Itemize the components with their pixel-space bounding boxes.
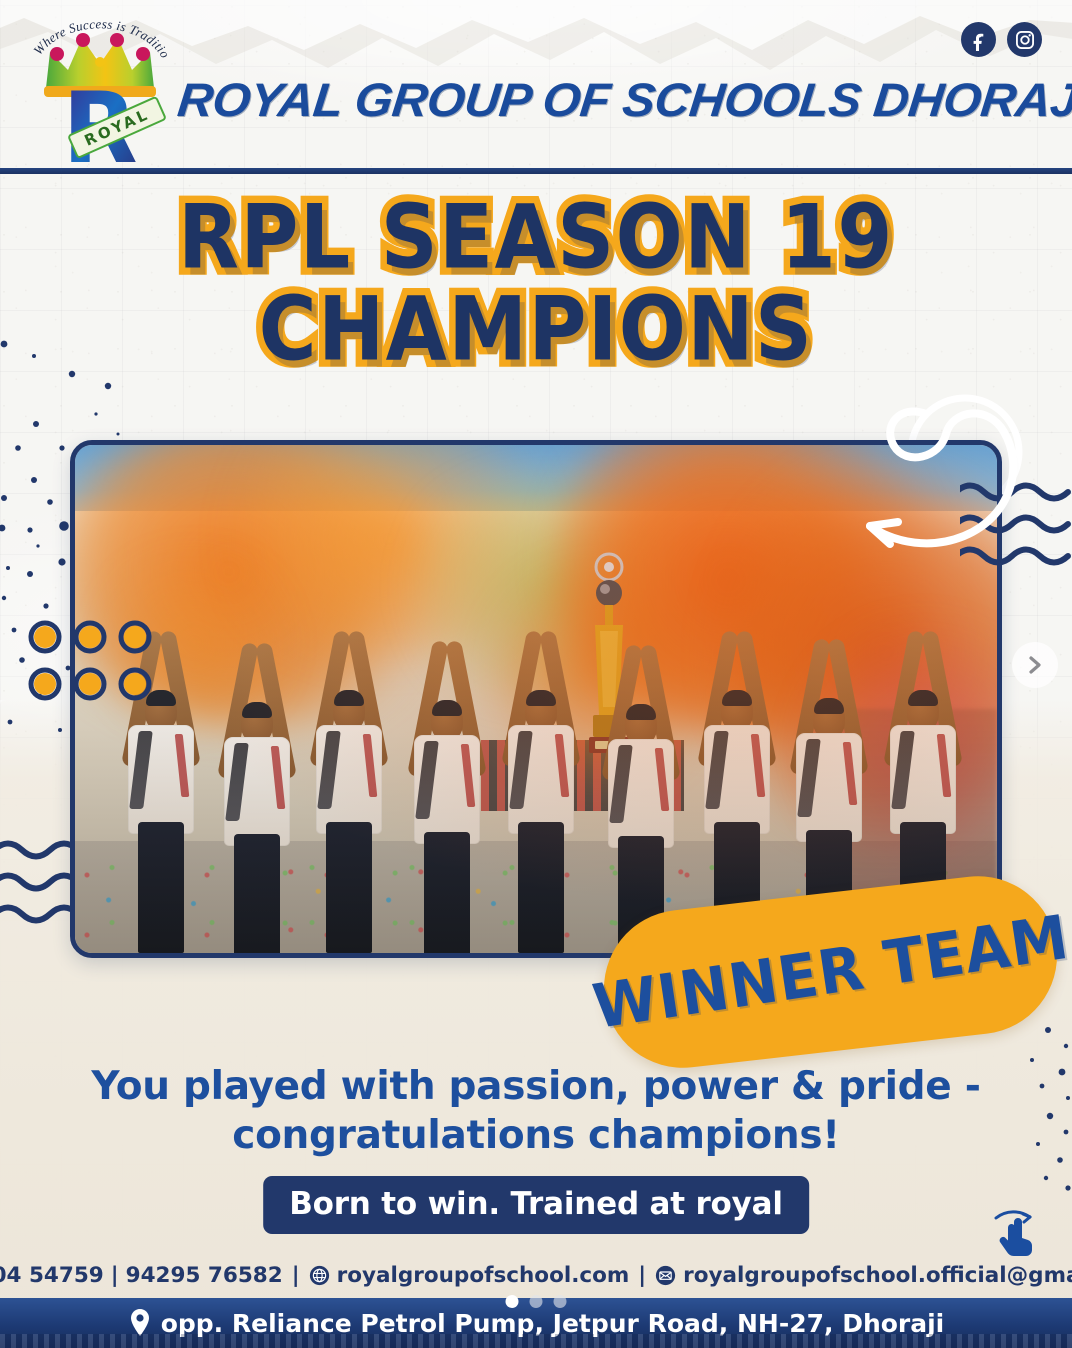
facebook-glyph	[968, 29, 990, 51]
contact-separator-2: |	[638, 1263, 646, 1288]
page-title: ROYAL GROUP OF SCHOOLS DHORAJI	[175, 72, 1072, 127]
website-contact[interactable]: royalgroupofschool.com	[309, 1263, 630, 1288]
header: Where Success is Tradition R ROYAL RO	[0, 0, 1072, 170]
player-figure	[307, 669, 391, 953]
carousel-pagination[interactable]	[506, 1295, 567, 1308]
logo-graphic: Where Success is Tradition R ROYAL	[24, 12, 176, 162]
curved-arrow-icon	[848, 398, 1038, 568]
carousel-dot[interactable]	[554, 1295, 567, 1308]
player-figure	[499, 669, 583, 953]
email-contact[interactable]: royalgroupofschool.official@gmail.com	[655, 1263, 1072, 1288]
headline-line-1: RPL SEASON 19	[0, 196, 1072, 281]
email-icon	[655, 1265, 676, 1286]
poster-canvas: Where Success is Tradition R ROYAL RO	[0, 0, 1072, 1348]
contact-strip: 82004 54759 | 94295 76582 | royalgroupof…	[0, 1252, 1072, 1298]
svg-text:Where Success is Tradition: Where Success is Tradition	[24, 12, 173, 61]
instagram-icon[interactable]	[1007, 22, 1042, 57]
carousel-dot[interactable]	[506, 1295, 519, 1308]
instagram-glyph	[1014, 29, 1036, 51]
player-figure	[119, 669, 203, 953]
phone-contact[interactable]: 82004 54759 | 94295 76582	[0, 1263, 283, 1288]
header-divider	[0, 168, 1072, 174]
facebook-icon[interactable]	[961, 22, 996, 57]
message-line-1: You played with passion, power & pride -	[0, 1062, 1072, 1111]
carousel-dot[interactable]	[530, 1295, 543, 1308]
headline: RPL SEASON 19 CHAMPIONS	[0, 196, 1072, 364]
ring-dots-decor	[28, 620, 152, 704]
carousel-next-button[interactable]	[1012, 642, 1058, 688]
congratulations-message: You played with passion, power & pride -…	[0, 1062, 1072, 1160]
tagline-badge: Born to win. Trained at royal	[263, 1176, 809, 1234]
phone-number-1: 82004 54759	[0, 1263, 104, 1288]
next-post-peek	[0, 1334, 1072, 1348]
school-logo[interactable]: Where Success is Tradition R ROYAL	[24, 12, 176, 162]
phone-divider: |	[111, 1263, 119, 1288]
social-links	[961, 22, 1042, 57]
email-address: royalgroupofschool.official@gmail.com	[683, 1263, 1072, 1288]
message-line-2: congratulations champions!	[0, 1111, 1072, 1160]
website-url: royalgroupofschool.com	[337, 1263, 630, 1288]
player-figure	[405, 679, 489, 958]
contact-separator-1: |	[292, 1263, 300, 1288]
globe-icon	[309, 1265, 330, 1286]
headline-line-2: CHAMPIONS	[0, 288, 1072, 373]
chevron-right-icon	[1025, 654, 1045, 676]
swipe-hand-icon	[990, 1208, 1042, 1256]
phone-number-2: 94295 76582	[126, 1263, 283, 1288]
player-figure	[215, 681, 299, 958]
winner-team-label: WINNER TEAM	[588, 901, 1072, 1043]
